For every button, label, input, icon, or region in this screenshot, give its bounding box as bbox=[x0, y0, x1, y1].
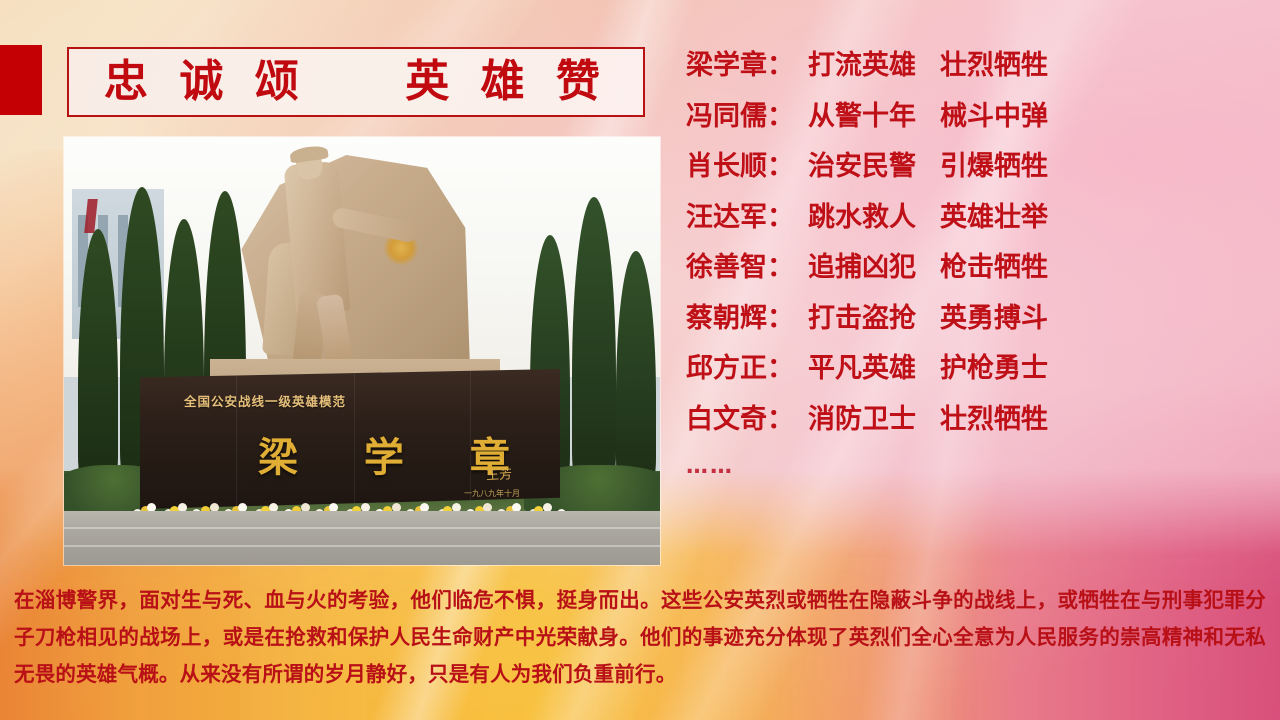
hero-deed: 打击盗抢 bbox=[808, 305, 940, 332]
hero-fate: 枪击牺牲 bbox=[940, 254, 1048, 281]
hero-deed: 平凡英雄 bbox=[808, 355, 940, 382]
hero-row: 梁学章：打流英雄壮烈牺牲 bbox=[686, 52, 1246, 79]
page-title: 忠 诚 颂 英 雄 赞 bbox=[104, 60, 608, 104]
footer-paragraph: 在淄博警界，面对生与死、血与火的考验，他们临危不惧，挺身而出。这些公安英烈或牺牲… bbox=[14, 582, 1266, 693]
hero-deed: 从警十年 bbox=[808, 103, 940, 130]
hero-row: 肖长顺：治安民警引爆牺牲 bbox=[686, 153, 1246, 180]
hero-fate: 英勇搏斗 bbox=[940, 305, 1048, 332]
hero-name: 白文奇： bbox=[686, 406, 808, 433]
slide-canvas: 忠 诚 颂 英 雄 赞 bbox=[0, 0, 1280, 720]
memorial-plaque: 全国公安战线一级英雄模范 梁 学 章 王芳 一九八九年十月 bbox=[140, 369, 560, 509]
hero-name: 汪达军： bbox=[686, 204, 808, 231]
hero-row: 白文奇：消防卫士壮烈牺牲 bbox=[686, 406, 1246, 433]
hero-row: 蔡朝辉：打击盗抢英勇搏斗 bbox=[686, 305, 1246, 332]
hero-deed: 打流英雄 bbox=[808, 52, 940, 79]
hero-row: 冯同儒：从警十年械斗中弹 bbox=[686, 103, 1246, 130]
plaque-signature: 王芳 bbox=[486, 463, 513, 483]
hero-fate: 壮烈牺牲 bbox=[940, 52, 1048, 79]
hero-deed: 消防卫士 bbox=[808, 406, 940, 433]
hero-row: 邱方正：平凡英雄护枪勇士 bbox=[686, 355, 1246, 382]
hero-fate: 引爆牺牲 bbox=[940, 153, 1048, 180]
red-accent-block bbox=[0, 45, 42, 115]
hero-fate: 英雄壮举 bbox=[940, 204, 1048, 231]
hero-row: 汪达军：跳水救人英雄壮举 bbox=[686, 204, 1246, 231]
hero-name: 冯同儒： bbox=[686, 103, 808, 130]
memorial-photo: 全国公安战线一级英雄模范 梁 学 章 王芳 一九八九年十月 bbox=[64, 137, 660, 565]
hero-deed: 治安民警 bbox=[808, 153, 940, 180]
hero-name: 蔡朝辉： bbox=[686, 305, 808, 332]
hero-name: 邱方正： bbox=[686, 355, 808, 382]
hero-fate: 壮烈牺牲 bbox=[940, 406, 1048, 433]
hero-fate: 械斗中弹 bbox=[940, 103, 1048, 130]
hero-fate: 护枪勇士 bbox=[940, 355, 1048, 382]
hero-row: 徐善智：追捕凶犯枪击牺牲 bbox=[686, 254, 1246, 281]
photo-pavement bbox=[64, 511, 660, 565]
hero-deed: 追捕凶犯 bbox=[808, 254, 940, 281]
hero-name: 徐善智： bbox=[686, 254, 808, 281]
hero-list-more: …… bbox=[686, 456, 1246, 478]
hero-deed: 跳水救人 bbox=[808, 204, 940, 231]
hero-name: 梁学章： bbox=[686, 52, 808, 79]
hero-list: 梁学章：打流英雄壮烈牺牲冯同儒：从警十年械斗中弹肖长顺：治安民警引爆牺牲汪达军：… bbox=[686, 52, 1246, 502]
title-box: 忠 诚 颂 英 雄 赞 bbox=[67, 47, 645, 117]
hero-name: 肖长顺： bbox=[686, 153, 808, 180]
plaque-title-text: 全国公安战线一级英雄模范 bbox=[184, 391, 346, 410]
